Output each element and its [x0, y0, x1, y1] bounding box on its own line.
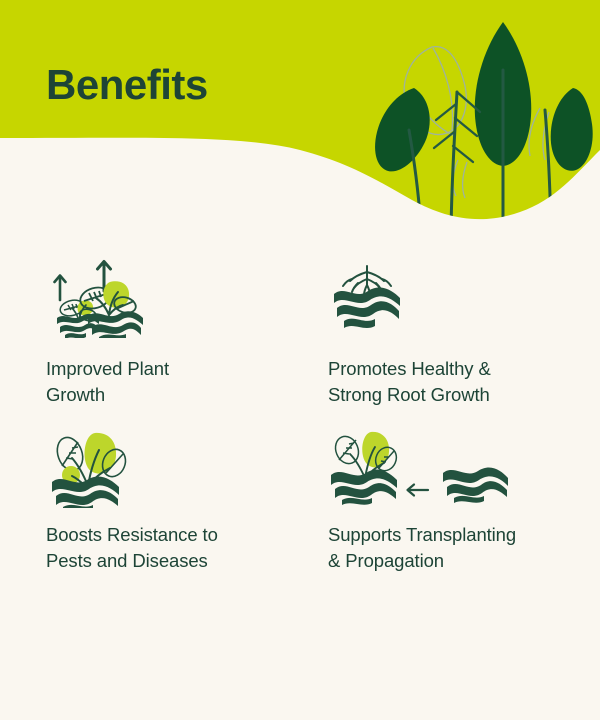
benefit-item-root-growth: Promotes Healthy &Strong Root Growth — [328, 258, 600, 428]
benefit-label-line1: Boosts Resistance to — [46, 524, 218, 545]
benefit-label-line2: Strong Root Growth — [328, 384, 490, 405]
benefit-label: Supports Transplanting& Propagation — [328, 522, 568, 575]
benefit-label-line2: Pests and Diseases — [46, 550, 208, 571]
benefit-item-improved-plant-growth: Improved PlantGrowth — [46, 258, 318, 428]
page-title: Benefits — [46, 64, 208, 106]
root-growth-icon — [328, 258, 408, 338]
pest-resistance-icon — [46, 428, 146, 508]
benefit-label: Improved PlantGrowth — [46, 356, 296, 409]
benefit-label-line1: Supports Transplanting — [328, 524, 516, 545]
header-illustration — [0, 0, 600, 230]
benefit-label: Boosts Resistance toPests and Diseases — [46, 522, 296, 575]
transplanting-icon — [328, 428, 508, 508]
benefit-label-line2: Growth — [46, 384, 105, 405]
benefit-label-line1: Promotes Healthy & — [328, 358, 491, 379]
benefit-item-pest-resistance: Boosts Resistance toPests and Diseases — [46, 428, 318, 598]
benefits-page: Benefits — [0, 0, 600, 720]
benefit-label-line2: & Propagation — [328, 550, 444, 571]
benefit-item-transplanting: Supports Transplanting& Propagation — [328, 428, 600, 598]
benefits-grid: Improved PlantGrowth — [0, 258, 600, 598]
plant-growth-icon — [46, 258, 156, 338]
header-banner: Benefits — [0, 0, 600, 230]
benefit-label: Promotes Healthy &Strong Root Growth — [328, 356, 568, 409]
benefit-label-line1: Improved Plant — [46, 358, 169, 379]
